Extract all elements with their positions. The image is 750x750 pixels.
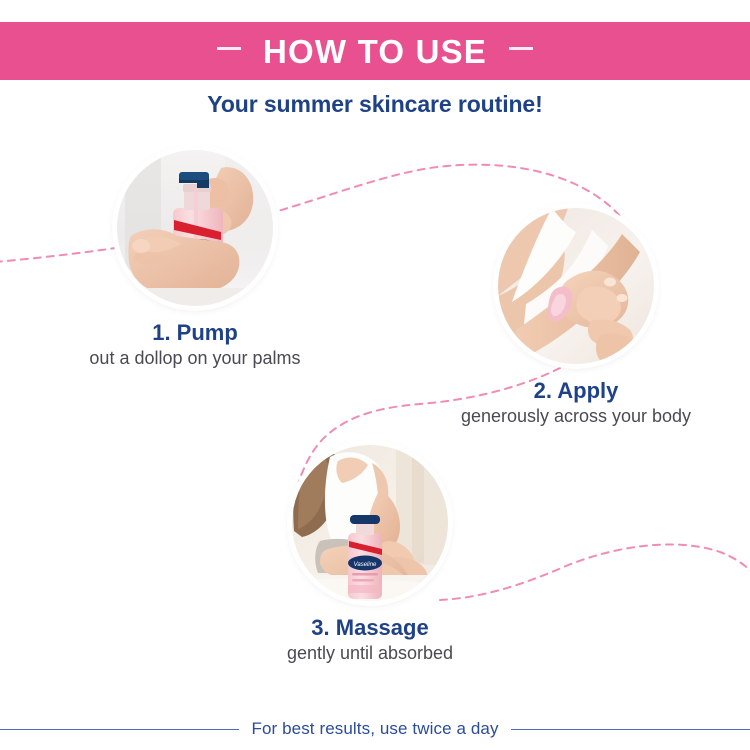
- banner-dash-right-icon: [509, 47, 533, 50]
- step-3-title: 3. Massage: [215, 615, 525, 640]
- step-1-image-wrap: Vaseline PURE: [117, 150, 273, 306]
- step-3-image-wrap: Vaseline: [292, 445, 448, 601]
- step-2-caption: 2. Apply generously across your body: [420, 378, 732, 429]
- header-banner: HOW TO USE: [0, 22, 750, 80]
- step-2-apply: 2. Apply generously across your body: [420, 208, 732, 429]
- step-1-photo: Vaseline PURE: [117, 150, 273, 306]
- how-to-use-infographic: HOW TO USE Your summer skincare routine!: [0, 0, 750, 750]
- footer-rule-right: [511, 729, 750, 730]
- step-1-title: 1. Pump: [40, 320, 350, 345]
- step-3-massage: Vaseline 3. Massage gently until absorbe…: [215, 445, 525, 666]
- step-1-caption: 1. Pump out a dollop on your palms: [40, 320, 350, 371]
- step-3-photo: Vaseline: [292, 445, 448, 601]
- svg-text:Vaseline: Vaseline: [354, 562, 377, 568]
- subtitle: Your summer skincare routine!: [0, 91, 750, 118]
- step-1-description: out a dollop on your palms: [40, 347, 350, 370]
- banner-title: HOW TO USE: [263, 35, 487, 68]
- step-1-pump: Vaseline PURE 1: [40, 150, 350, 371]
- step-2-image-wrap: [498, 208, 654, 364]
- footer: For best results, use twice a day: [0, 712, 750, 746]
- step-2-photo: [498, 208, 654, 364]
- banner-dash-left-icon: [217, 47, 241, 50]
- step-3-description: gently until absorbed: [215, 642, 525, 665]
- step-2-description: generously across your body: [420, 405, 732, 428]
- footer-text: For best results, use twice a day: [239, 719, 510, 739]
- footer-rule-left: [0, 729, 239, 730]
- step-3-caption: 3. Massage gently until absorbed: [215, 615, 525, 666]
- step-2-title: 2. Apply: [420, 378, 732, 403]
